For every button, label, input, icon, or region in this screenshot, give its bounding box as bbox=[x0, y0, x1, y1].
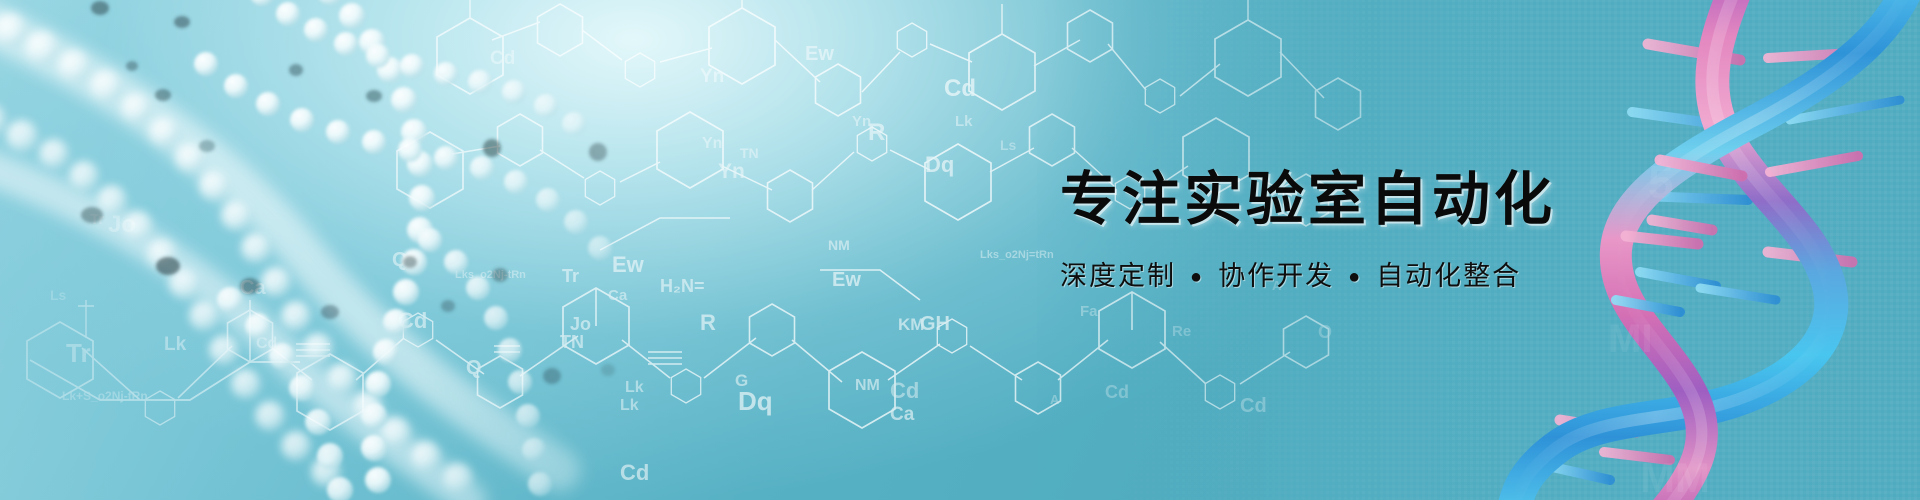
lab-automation-banner: Cd Ew Yn Yn Dq Dq R R Ew Ew Yn Yn Lk G Q… bbox=[0, 0, 1920, 500]
svg-text:MI: MI bbox=[1608, 317, 1652, 361]
svg-text:MM: MM bbox=[1640, 454, 1710, 500]
ribbon-dna-helix: 5 MI MM bbox=[0, 0, 1920, 500]
svg-text:5: 5 bbox=[1648, 156, 1674, 208]
